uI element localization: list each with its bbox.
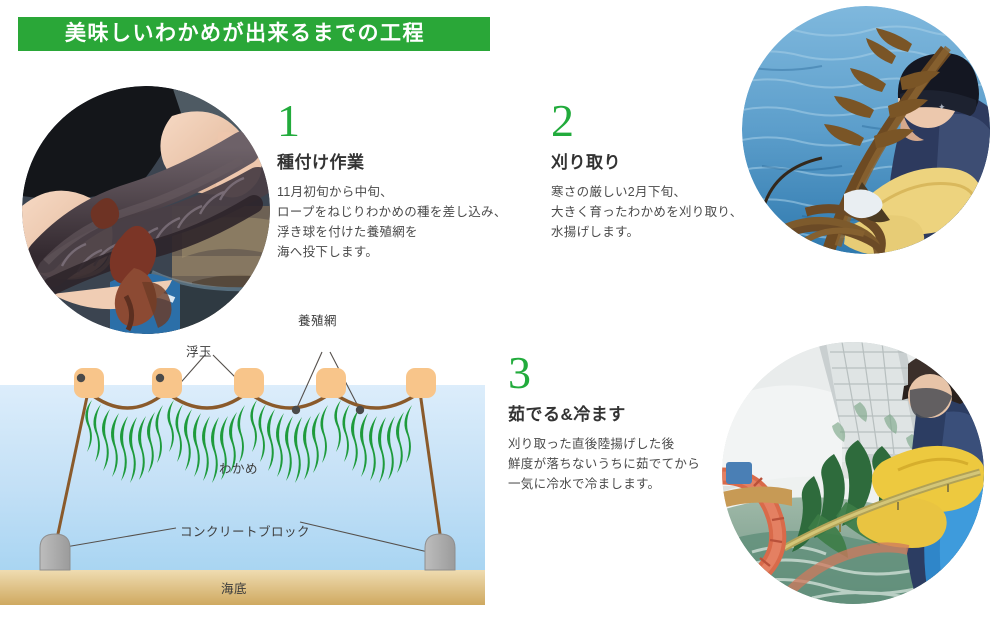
svg-text:✦: ✦ (938, 102, 946, 112)
step-2-body-line: 大きく育ったわかめを刈り取り、 (551, 202, 743, 222)
step-2-number: 2 (551, 98, 743, 144)
step-2: 2 刈り取り 寒さの厳しい2月下旬、 大きく育ったわかめを刈り取り、 水揚げしま… (551, 98, 743, 242)
diagram-label-float: 浮玉 (186, 341, 212, 360)
diagram-label-net: 養殖網 (298, 310, 337, 329)
step-1-number: 1 (277, 98, 507, 144)
diagram-label-seabed: 海底 (221, 578, 247, 597)
step-1-title: 種付け作業 (277, 148, 507, 173)
step-3-body-line: 鮮度が落ちないうちに茹でてから (508, 454, 700, 474)
step-3-body-line: 一気に冷水で冷まします。 (508, 474, 700, 494)
photo-step-3 (722, 342, 984, 604)
diagram-label-wakame: わかめ (219, 458, 258, 477)
step-1-body-line: 11月初旬から中旬、 (277, 182, 507, 202)
step-2-title: 刈り取り (551, 148, 743, 173)
step-1-body-line: 海へ投下します。 (277, 242, 507, 262)
photo-step-2: ✦ (742, 6, 990, 254)
photo-step-1 (22, 86, 270, 334)
page-title: 美味しいわかめが出来るまでの工程 (65, 17, 425, 51)
step-3-body-line: 刈り取った直後陸揚げした後 (508, 434, 700, 454)
step-3-number: 3 (508, 350, 700, 396)
step-2-body-line: 水揚げします。 (551, 222, 743, 242)
step-3-body: 刈り取った直後陸揚げした後 鮮度が落ちないうちに茹でてから 一気に冷水で冷ましま… (508, 434, 700, 494)
step-2-body-line: 寒さの厳しい2月下旬、 (551, 182, 743, 202)
step-3-title: 茹でる&冷ます (508, 400, 700, 425)
cultivation-diagram (0, 300, 500, 610)
step-1-body-line: ロープをねじりわかめの種を差し込み、 (277, 202, 507, 222)
infographic-page: 美味しいわかめが出来るまでの工程 (0, 0, 1000, 621)
step-1-body: 11月初旬から中旬、 ロープをねじりわかめの種を差し込み、 浮き球を付けた養殖網… (277, 182, 507, 262)
diagram-label-concrete-block: コンクリートブロック (180, 521, 310, 540)
step-3: 3 茹でる&冷ます 刈り取った直後陸揚げした後 鮮度が落ちないうちに茹でてから … (508, 350, 700, 494)
step-1: 1 種付け作業 11月初旬から中旬、 ロープをねじりわかめの種を差し込み、 浮き… (277, 98, 507, 262)
step-1-body-line: 浮き球を付けた養殖網を (277, 222, 507, 242)
step-2-body: 寒さの厳しい2月下旬、 大きく育ったわかめを刈り取り、 水揚げします。 (551, 182, 743, 242)
